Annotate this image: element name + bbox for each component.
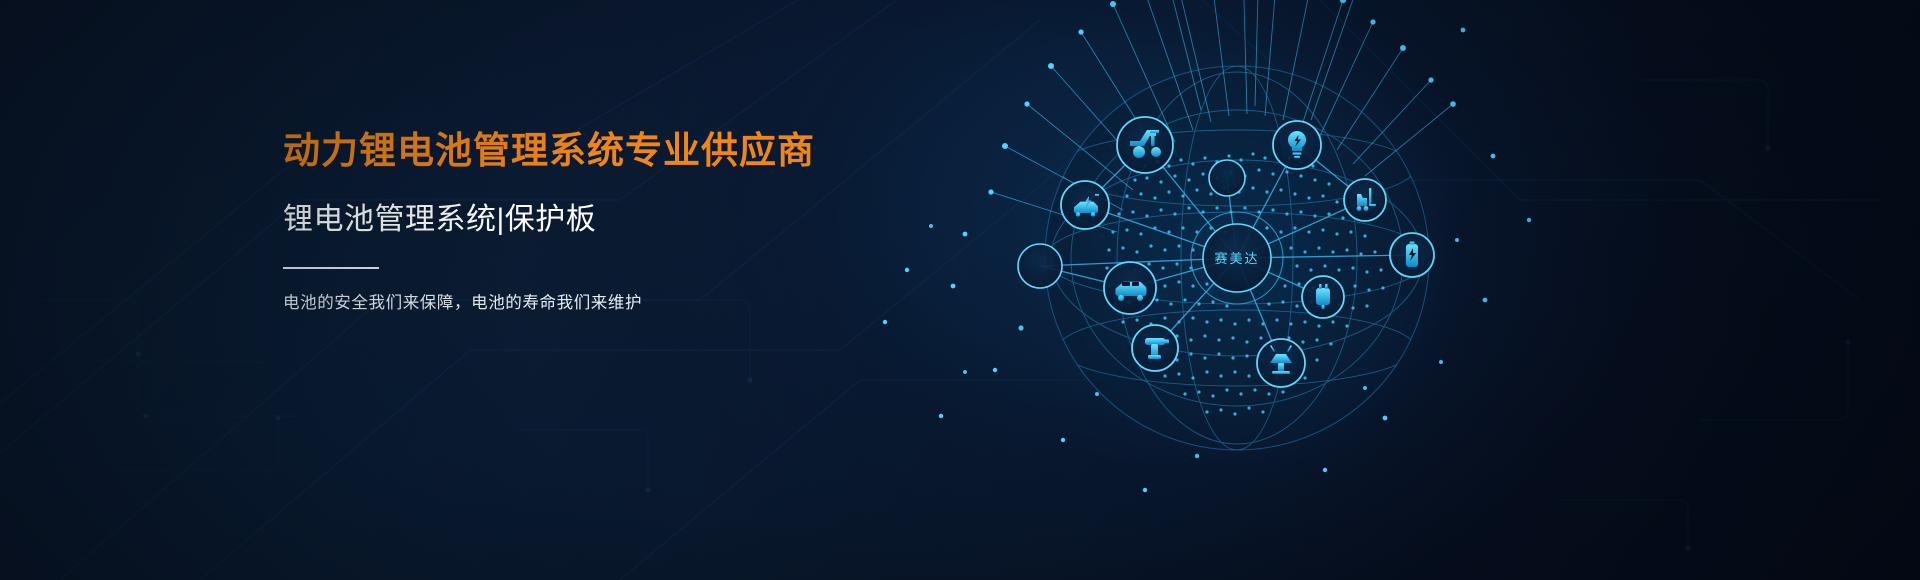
node-empty-left[interactable] bbox=[1018, 244, 1062, 288]
hub-label: 赛美达 bbox=[1214, 251, 1259, 266]
empty-node-icon bbox=[1209, 160, 1245, 196]
node-scooter[interactable] bbox=[1117, 117, 1173, 173]
empty-node-icon bbox=[1018, 244, 1062, 288]
page-subtitle: 锂电池管理系统|保护板 bbox=[283, 200, 903, 239]
tagline: 电池的安全我们来保障，电池的寿命我们来维护 bbox=[283, 291, 903, 316]
node-lamp[interactable] bbox=[1257, 339, 1305, 387]
node-battery[interactable] bbox=[1390, 233, 1434, 277]
battery-icon bbox=[1406, 242, 1418, 268]
hero-copy-block: 动力锂电池管理系统专业供应商 锂电池管理系统|保护板 电池的安全我们来保障，电池… bbox=[283, 128, 903, 316]
node-bulb[interactable] bbox=[1273, 121, 1321, 169]
hub-node-icon: 赛美达 bbox=[1191, 212, 1283, 304]
node-car[interactable] bbox=[1104, 262, 1156, 314]
hero-banner: 动力锂电池管理系统专业供应商 锂电池管理系统|保护板 电池的安全我们来保障，电池… bbox=[0, 0, 1920, 580]
network-globe-graphic: 赛美达 bbox=[845, 0, 1545, 580]
node-plug[interactable] bbox=[1302, 276, 1344, 318]
page-title: 动力锂电池管理系统专业供应商 bbox=[283, 128, 903, 174]
node-forklift[interactable] bbox=[1344, 179, 1386, 221]
divider bbox=[283, 267, 379, 269]
node-ev-car[interactable] bbox=[1061, 181, 1109, 229]
node-empty-top[interactable] bbox=[1209, 160, 1245, 196]
node-drill[interactable] bbox=[1132, 325, 1178, 371]
